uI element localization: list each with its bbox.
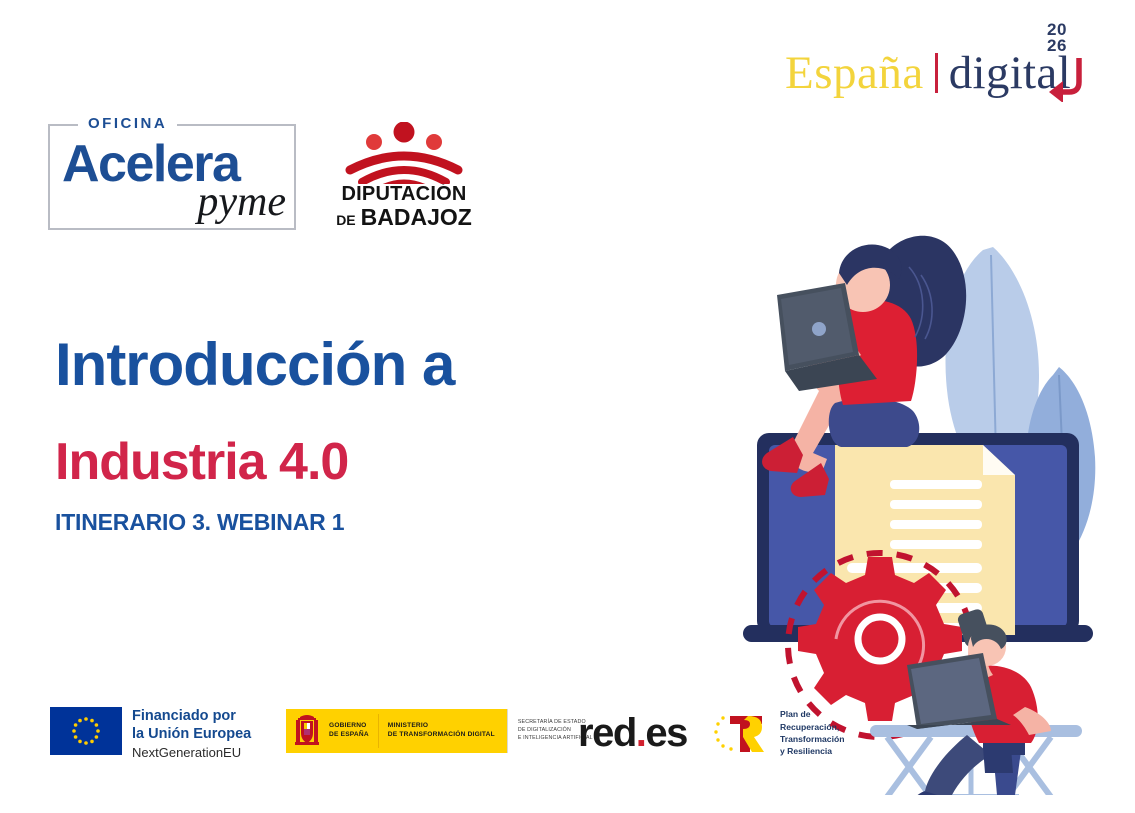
eu-funding-logo: Financiado por la Unión Europea NextGene…	[50, 707, 251, 763]
prtr-emblem-icon	[710, 708, 772, 758]
acelera-pyme-wordmark: pyme	[197, 181, 286, 223]
prtr-line2: Recuperación,	[780, 721, 844, 733]
diputacion-de-label: DE	[336, 212, 355, 228]
prtr-text: Plan de Recuperación, Transformación y R…	[780, 708, 844, 758]
diputacion-emblem	[328, 122, 480, 184]
espana-digital-logo: España digital 20 26	[785, 50, 1071, 97]
return-arrow-icon	[1043, 56, 1085, 102]
ministerio-text: MINISTERIO DE TRANSFORMACIÓN DIGITAL	[388, 722, 507, 740]
eu-line3: NextGenerationEU	[132, 743, 251, 763]
presentation-slide: España digital 20 26 OFICINA Acelera pym…	[0, 0, 1135, 813]
eu-line1: Financiado por	[132, 708, 251, 726]
eu-flag-icon	[50, 707, 122, 755]
redes-part1: red	[578, 711, 636, 755]
page-title: Introducción a	[55, 335, 454, 395]
eu-line2: la Unión Europea	[132, 726, 251, 744]
diputacion-line2: DE BADAJOZ	[328, 204, 480, 231]
gobierno-line2: DE ESPAÑA	[329, 731, 369, 740]
diputacion-arcs-icon	[328, 122, 480, 184]
redes-part2: es	[645, 711, 687, 755]
footer-logos: Financiado por la Unión Europea NextGene…	[0, 695, 1135, 785]
acelera-oficina-label: OFICINA	[78, 115, 177, 132]
diputacion-badajoz-label: BADAJOZ	[361, 204, 472, 231]
acelera-pyme-logo: OFICINA Acelera pyme	[48, 124, 296, 230]
page-subtitle: Industria 4.0	[55, 436, 348, 488]
prtr-line1: Plan de	[780, 708, 844, 720]
redes-dot: .	[636, 711, 646, 755]
eu-funding-text: Financiado por la Unión Europea NextGene…	[132, 707, 251, 763]
gobierno-text: GOBIERNO DE ESPAÑA	[329, 722, 369, 740]
prtr-line3: Transformación	[780, 733, 844, 745]
spain-coat-of-arms-icon	[292, 714, 322, 748]
itinerary-label: ITINERARIO 3. WEBINAR 1	[55, 511, 344, 534]
ministerio-line1: MINISTERIO	[388, 722, 495, 731]
redes-wordmark: red.es	[578, 713, 687, 753]
redes-logo: red.es	[578, 713, 687, 753]
ministerio-line2: DE TRANSFORMACIÓN DIGITAL	[388, 731, 495, 740]
gobierno-espana-logo: GOBIERNO DE ESPAÑA MINISTERIO DE TRANSFO…	[286, 709, 593, 753]
espana-digital-year-2026: 20 26	[1047, 22, 1067, 54]
year-bottom: 26	[1047, 38, 1067, 54]
prtr-line4: y Resiliencia	[780, 745, 844, 757]
diputacion-badajoz-logo: DIPUTACIÓN DE BADAJOZ	[328, 122, 480, 231]
espana-digital-espana-text: España	[785, 50, 924, 97]
prtr-logo: Plan de Recuperación, Transformación y R…	[710, 708, 844, 758]
diputacion-line1: DIPUTACIÓN	[328, 184, 480, 204]
gobierno-divider	[378, 714, 379, 748]
gobierno-line1: GOBIERNO	[329, 722, 369, 731]
espana-digital-separator-bar	[935, 53, 938, 93]
gobierno-yellow-block: GOBIERNO DE ESPAÑA MINISTERIO DE TRANSFO…	[286, 709, 507, 753]
